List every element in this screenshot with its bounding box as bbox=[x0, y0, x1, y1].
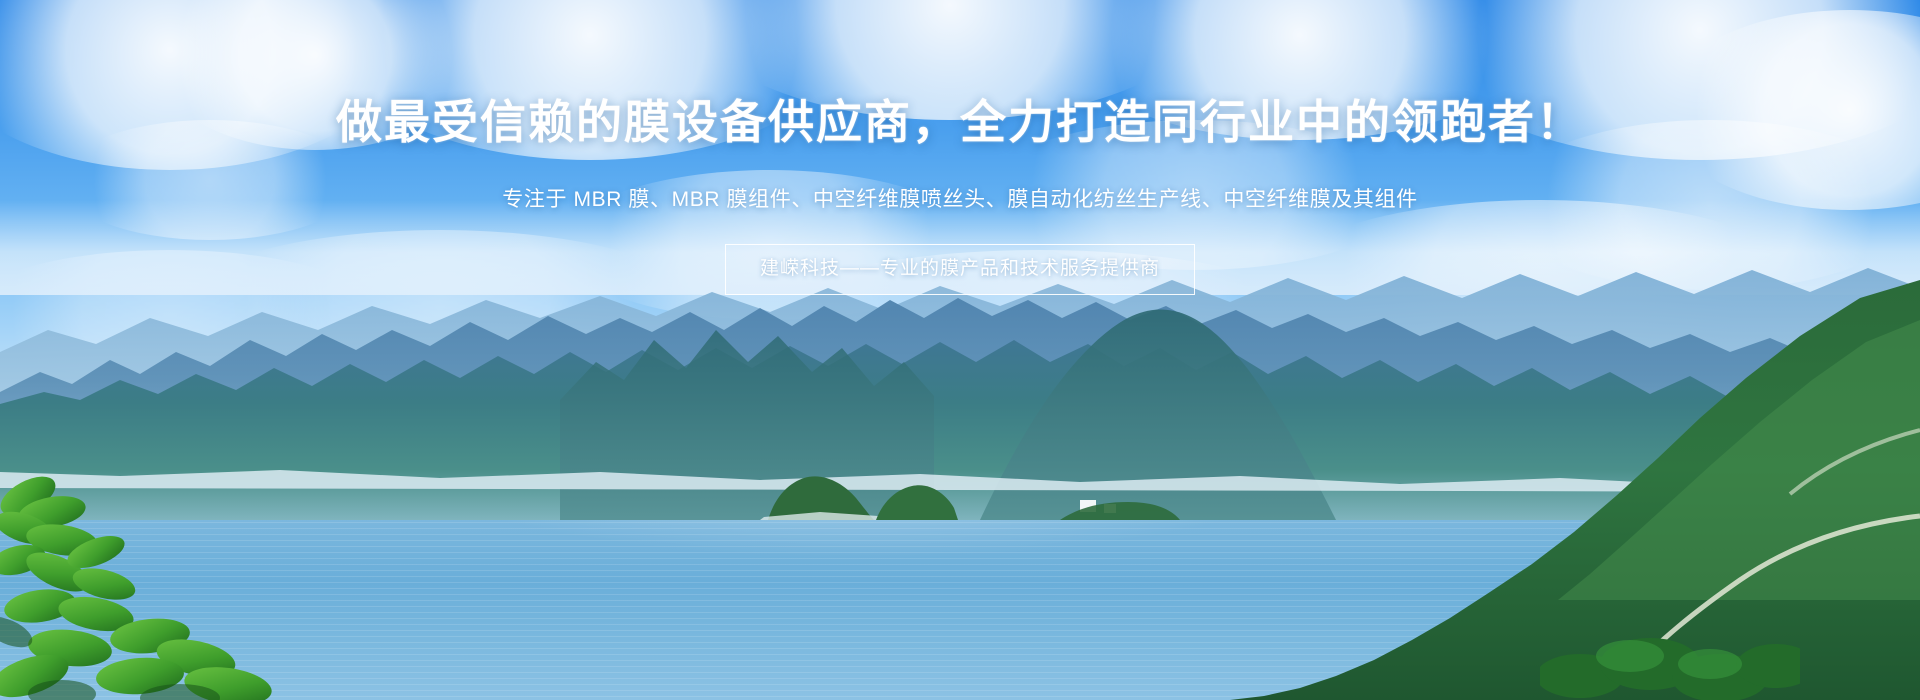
banner-subline: 专注于 MBR 膜、MBR 膜组件、中空纤维膜喷丝头、膜自动化纺丝生产线、中空纤… bbox=[0, 185, 1920, 214]
hero-banner: 做最受信赖的膜设备供应商，全力打造同行业中的领跑者！ 专注于 MBR 膜、MBR… bbox=[0, 0, 1920, 700]
lake-islet bbox=[760, 470, 880, 520]
foreground-foliage bbox=[0, 400, 320, 700]
banner-headline: 做最受信赖的膜设备供应商，全力打造同行业中的领跑者！ bbox=[0, 96, 1920, 149]
banner-tagline-wrap: 建嵘科技——专业的膜产品和技术服务提供商 bbox=[0, 244, 1920, 295]
banner-copy: 做最受信赖的膜设备供应商，全力打造同行业中的领跑者！ 专注于 MBR 膜、MBR… bbox=[0, 0, 1920, 295]
foreground-foliage-right bbox=[1540, 580, 1800, 700]
banner-tagline-box: 建嵘科技——专业的膜产品和技术服务提供商 bbox=[725, 244, 1195, 295]
shore-buildings bbox=[1060, 486, 1180, 520]
lake-islet bbox=[870, 478, 960, 520]
